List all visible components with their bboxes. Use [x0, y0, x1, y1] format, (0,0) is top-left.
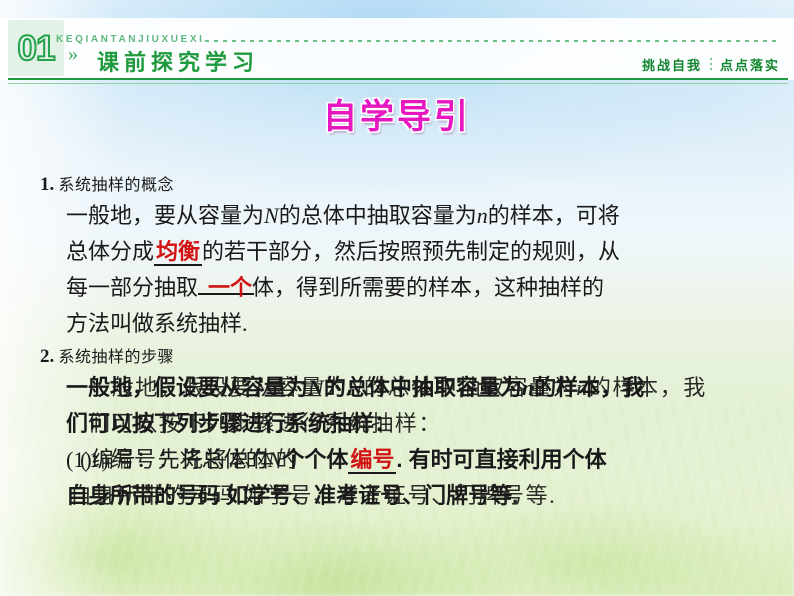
item-2-var-n: n: [522, 375, 534, 400]
header-underline-thin: [8, 83, 788, 84]
item-1-line-3-a: 每一部分抽取: [66, 275, 198, 300]
item-1-line-4: 方法叫做系统抽样.: [40, 306, 770, 342]
item-2-var-N2: N: [268, 447, 283, 472]
item-1-line-2: 总体分成均衡的若干部分，然后按照预先制定的规则，从: [40, 234, 770, 270]
page-title: 自学导引: [0, 100, 794, 134]
header-title: 课前探究学习: [97, 52, 259, 74]
item-1-heading: 1. 系统抽样的概念: [40, 172, 770, 198]
list-item: 1. 系统抽样的概念 一般地，要从容量为N的总体中抽取容量为n的样本，可将 总体…: [40, 172, 770, 342]
section-number-badge: 01: [8, 20, 64, 76]
item-2-line-3-a: (1)编号：先将总体的: [66, 447, 268, 472]
list-item: 2. 系统抽样的步骤 一般地，假设要从容量为N的总体中抽取容量为n的样本，我 一…: [40, 344, 770, 514]
item-2-line-2-text: 们可以按下列步骤进行系统抽样：: [66, 411, 396, 436]
item-1-line-3-b: 体，得到所需要的样本，这种抽样的: [252, 275, 604, 300]
item-1-line-2-a: 总体分成: [66, 239, 154, 264]
header-pinyin: KEQIANTANJIUXUEXI: [56, 34, 204, 45]
item-2-line-4: 自身所带的号码 如学号、准考证号、门牌号等. 自身所带的号码 如学号、准考证号、…: [40, 478, 770, 514]
item-2-line-1: 一般地，假设要从容量为N的总体中抽取容量为n的样本，我 一般地，假设要从容量为N…: [40, 370, 770, 406]
item-1-answer-2: 一个: [208, 275, 252, 300]
chevron-right-icon: »: [68, 44, 78, 64]
item-2-var-N: N: [308, 375, 324, 400]
item-1-line-1-a: 一般地，要从容量为: [66, 203, 264, 228]
item-1-title: 系统抽样的概念: [59, 177, 175, 194]
item-1-var-n: n: [477, 203, 488, 228]
item-2-line-1-c: 的样本，我: [534, 375, 644, 400]
header-tagline-right: 点点落实: [720, 59, 780, 72]
item-2-title: 系统抽样的步骤: [59, 349, 175, 366]
slide-header: 01 » KEQIANTANJIUXUEXI 课前探究学习 挑战自我 点点落实: [0, 18, 794, 80]
item-2-line-3: (1)编号：先将总体的N个个体编号. 有时可直接利用个体 (1)编号：先将总体的: [40, 442, 770, 478]
item-2-line-3-b: 个个体: [282, 447, 348, 472]
item-1-var-N: N: [264, 203, 279, 228]
item-1-number: 1.: [40, 174, 54, 195]
item-1-line-2-b: 的若干部分，然后按照预先制定的规则，从: [202, 239, 620, 264]
section-number-text: 01: [18, 31, 55, 66]
item-1-line-1: 一般地，要从容量为N的总体中抽取容量为n的样本，可将: [40, 198, 770, 234]
item-1-line-1-b: 的总体中抽取容量为: [279, 203, 477, 228]
item-2-answer-1: 编号: [348, 447, 396, 474]
item-2-heading: 2. 系统抽样的步骤: [40, 344, 770, 370]
slide-canvas: 01 » KEQIANTANJIUXUEXI 课前探究学习 挑战自我 点点落实 …: [0, 0, 794, 596]
header-dotted-rule: [205, 40, 780, 42]
content-body: 1. 系统抽样的概念 一般地，要从容量为N的总体中抽取容量为n的样本，可将 总体…: [40, 172, 770, 516]
item-1-line-3: 每一部分抽取一个体，得到所需要的样本，这种抽样的: [40, 270, 770, 306]
item-2-line-4-text: 自身所带的号码 如学号、准考证号、门牌号等.: [66, 483, 518, 508]
item-2-line-2: 们可以按下列步骤进行系统抽样： 们可以按下列步骤进行系统抽样：: [40, 406, 770, 442]
item-2-line-1-b: 的总体中抽取容量为: [324, 375, 522, 400]
header-tagline-left: 挑战自我: [642, 59, 702, 72]
item-1-answer-1: 均衡: [154, 239, 202, 266]
item-1-line-1-c: 的样本，可将: [488, 203, 620, 228]
item-2-line-1-a: 一般地，假设要从容量为: [66, 375, 308, 400]
item-2-line-3-c: . 有时可直接利用个体: [396, 447, 606, 472]
header-underline: [8, 78, 788, 80]
header-tagline: 挑战自我 点点落实: [642, 58, 780, 73]
item-2-number: 2.: [40, 346, 54, 367]
header-tagline-separator: [710, 58, 712, 73]
